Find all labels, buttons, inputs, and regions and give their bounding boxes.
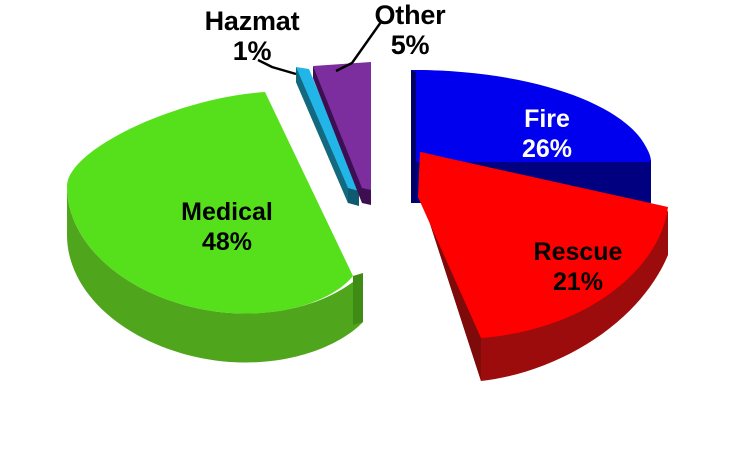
slice-label-hazmat-name: Hazmat: [192, 6, 312, 36]
slice-label-other: Other 5%: [355, 0, 465, 60]
slice-label-medical-name: Medical: [137, 198, 317, 228]
slice-label-fire: Fire 26%: [477, 105, 617, 164]
slice-label-other-name: Other: [355, 0, 465, 30]
slice-label-rescue-percent: 21%: [503, 268, 653, 298]
slice-label-fire-name: Fire: [477, 105, 617, 135]
slice-label-hazmat-percent: 1%: [192, 36, 312, 66]
slice-label-medical-percent: 48%: [137, 228, 317, 258]
slice-label-fire-percent: 26%: [477, 135, 617, 165]
slice-label-rescue-name: Rescue: [503, 238, 653, 268]
pie-chart-canvas: Hazmat 1% Other 5% Medical 48% Fire 26% …: [0, 0, 748, 475]
slice-label-hazmat: Hazmat 1%: [192, 6, 312, 66]
slice-label-medical: Medical 48%: [137, 198, 317, 257]
slice-label-rescue: Rescue 21%: [503, 238, 653, 297]
slice-label-other-percent: 5%: [355, 30, 465, 60]
